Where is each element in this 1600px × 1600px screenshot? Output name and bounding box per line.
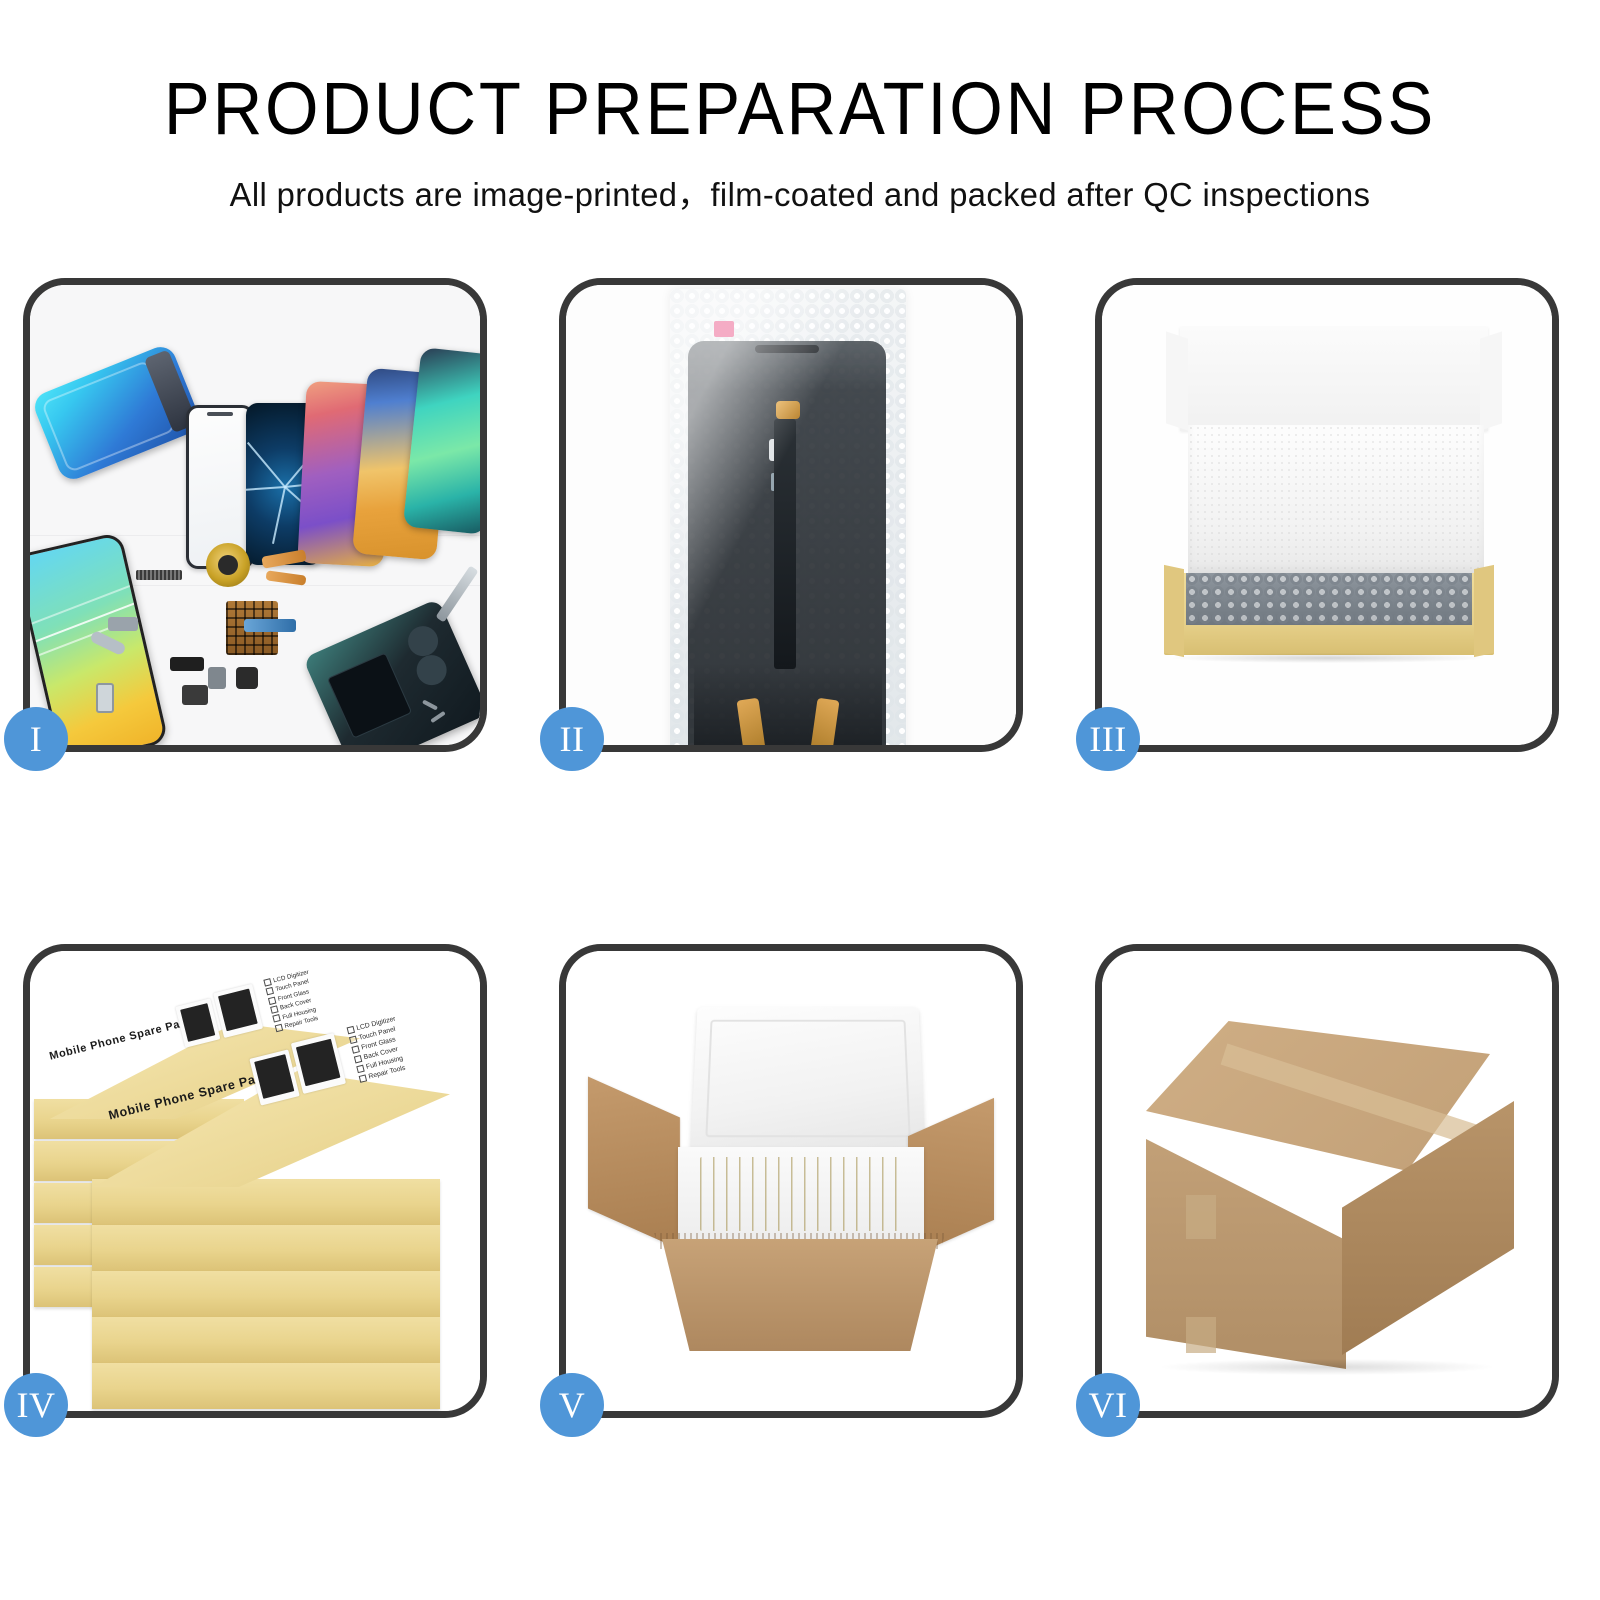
small-part-icon xyxy=(108,617,138,631)
box-product-photo xyxy=(213,984,263,1038)
step-panel-6: VI xyxy=(1095,944,1559,1418)
styrofoam-lid-icon xyxy=(690,1007,926,1152)
drop-shadow xyxy=(1162,1359,1492,1375)
carton-body-icon xyxy=(662,1239,938,1351)
box-checklist-rear: LCD Digitizer Touch Panel Front Glass Ba… xyxy=(263,968,321,1034)
step-panel-1: I xyxy=(23,278,487,752)
step-image-6 xyxy=(1102,951,1552,1411)
small-part-icon xyxy=(208,667,226,689)
box-lid-icon xyxy=(1180,327,1488,431)
film-gloss-overlay xyxy=(670,289,906,745)
step-image-1 xyxy=(30,285,480,745)
step-badge-3: III xyxy=(1076,707,1140,771)
step-badge-2: II xyxy=(540,707,604,771)
step-panel-4: Mobile Phone Spare Parts LCD Digitizer T… xyxy=(23,944,487,1418)
step-badge-4: IV xyxy=(4,1373,68,1437)
retail-box-stack: Mobile Phone Spare Parts LCD Digitizer T… xyxy=(30,1007,480,1397)
bubble-wrap-icon xyxy=(670,289,906,745)
box-checklist-front: LCD Digitizer Touch Panel Front Glass Ba… xyxy=(346,1015,409,1085)
page-title: PRODUCT PREPARATION PROCESS xyxy=(56,72,1544,146)
box-product-photo xyxy=(249,1049,299,1105)
step-image-4: Mobile Phone Spare Parts LCD Digitizer T… xyxy=(30,951,480,1411)
sim-tray-icon xyxy=(96,683,114,713)
packed-gold-boxes-icon xyxy=(700,1157,902,1231)
retail-box-slab xyxy=(92,1317,440,1363)
box-product-photo xyxy=(291,1033,346,1094)
small-part-icon xyxy=(170,657,204,671)
tray-side-left xyxy=(1164,565,1184,657)
bubble-wrap-fill-icon xyxy=(1186,573,1472,625)
foam-sheet-icon xyxy=(1188,425,1484,575)
retail-box-slab xyxy=(92,1225,440,1271)
screws-icon xyxy=(422,703,458,725)
box-product-photo xyxy=(175,998,220,1047)
styrofoam-body-icon xyxy=(678,1147,924,1245)
process-steps-grid: I II xyxy=(0,278,1600,1478)
box-brand-label: Mobile Phone Spare Parts xyxy=(48,1015,197,1063)
connector-strip-icon xyxy=(136,570,182,580)
step-panel-2: II xyxy=(559,278,1023,752)
tape-patch-icon xyxy=(1186,1317,1216,1353)
drop-shadow xyxy=(1172,653,1484,663)
step-image-5 xyxy=(566,951,1016,1411)
page-header: PRODUCT PREPARATION PROCESS All products… xyxy=(0,0,1600,216)
flex-cable-icon xyxy=(244,619,296,632)
small-part-icon xyxy=(236,667,258,689)
step-image-2 xyxy=(566,285,1016,745)
wireless-coil-icon xyxy=(206,543,250,587)
retail-box-slab xyxy=(92,1271,440,1317)
step-badge-5: V xyxy=(540,1373,604,1437)
step-badge-1: I xyxy=(4,707,68,771)
page-subtitle: All products are image-printed，film-coat… xyxy=(8,168,1592,216)
tray-side-right xyxy=(1474,565,1494,657)
step-panel-3: III xyxy=(1095,278,1559,752)
kraft-tray-icon xyxy=(1164,573,1494,655)
step-image-3 xyxy=(1102,285,1552,745)
step-badge-6: VI xyxy=(1076,1373,1140,1437)
small-part-icon xyxy=(182,685,208,705)
step-panel-5: V xyxy=(559,944,1023,1418)
retail-box-slab xyxy=(92,1363,440,1409)
tape-patch-icon xyxy=(1186,1195,1216,1239)
